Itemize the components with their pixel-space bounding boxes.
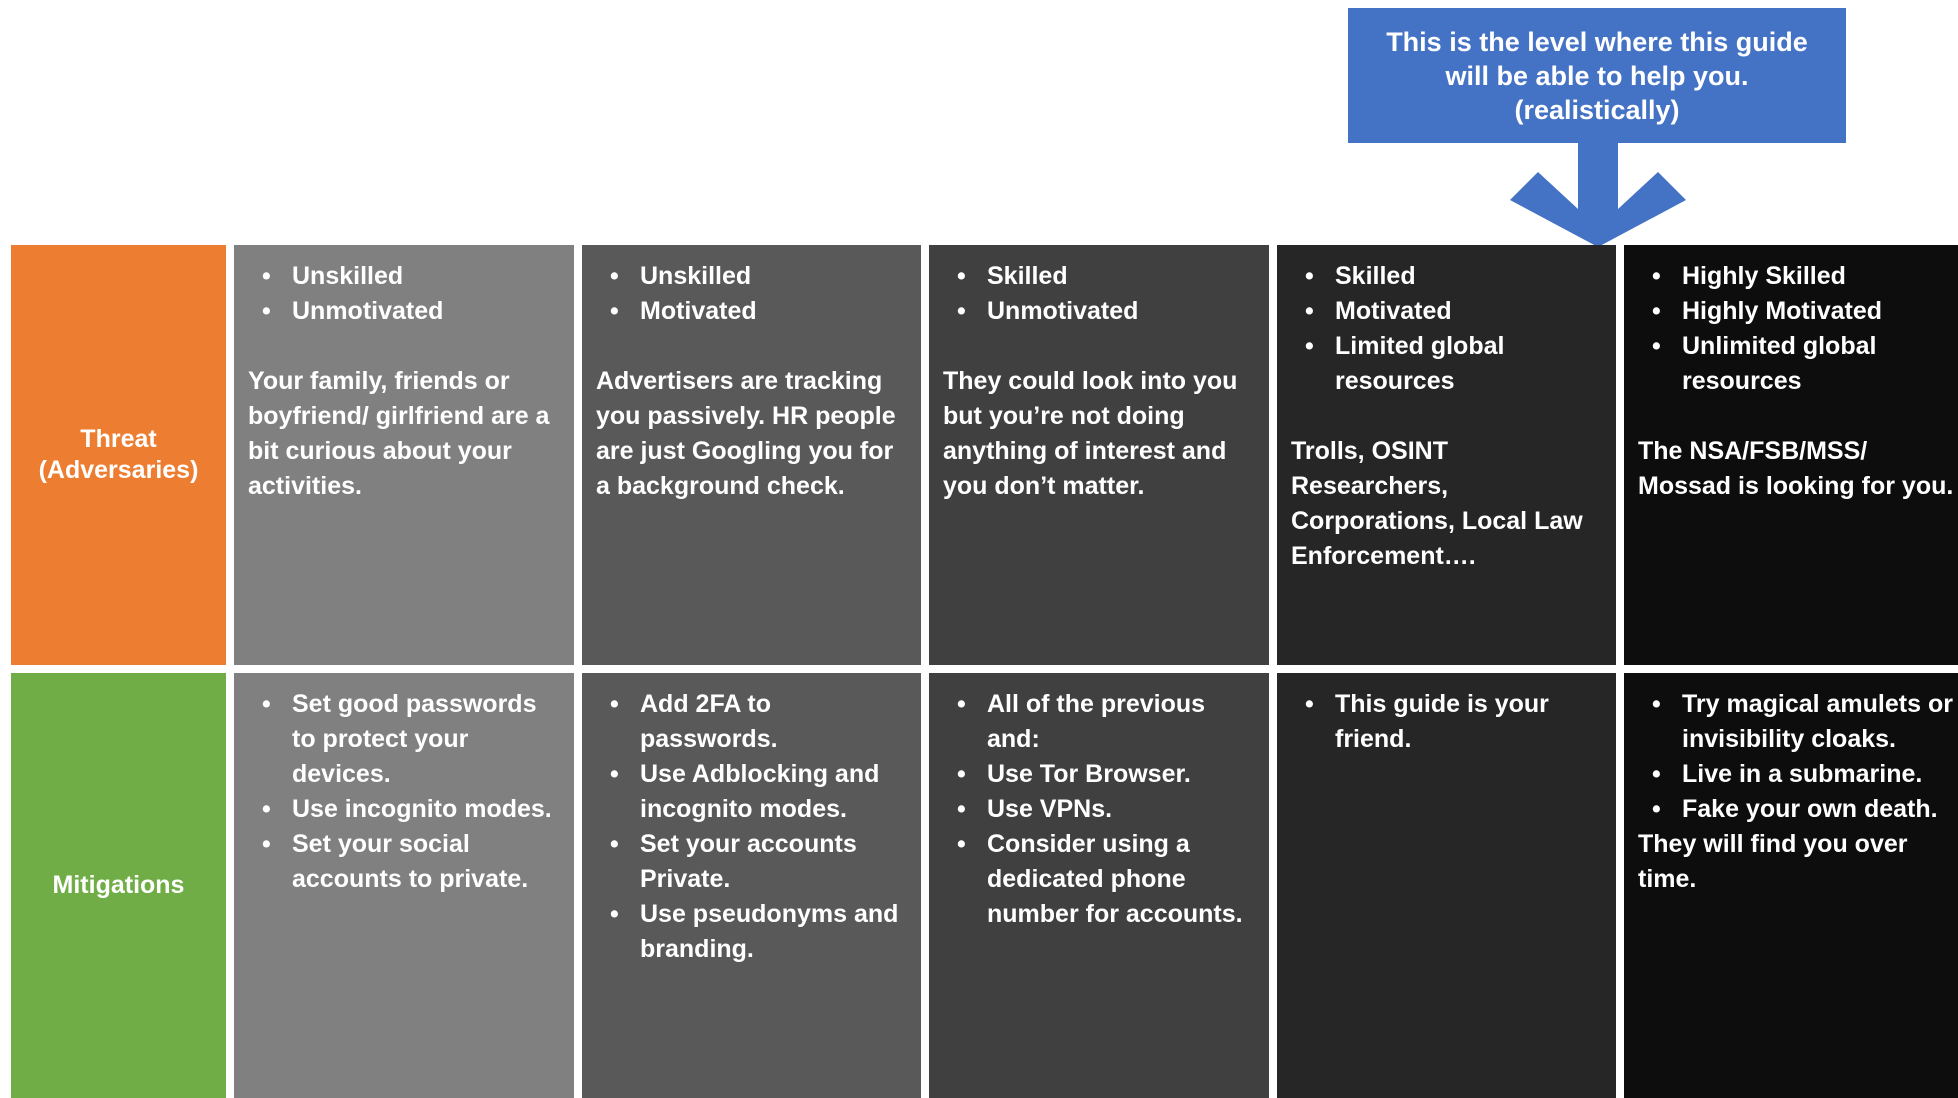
list-item: Set good passwords to protect your devic…	[248, 687, 560, 792]
row-label-threat: Threat (Adversaries)	[11, 245, 226, 665]
row-label-mitigations-text: Mitigations	[53, 870, 185, 901]
list-item: Skilled	[943, 259, 1255, 294]
mitigations-paragraph-level-5: They will find you over time.	[1638, 827, 1954, 897]
mitigations-cell-level-3: All of the previous and: Use Tor Browser…	[929, 673, 1269, 1098]
row-label-mitigations: Mitigations	[11, 673, 226, 1098]
mitigations-bullets-level-4: This guide is your friend.	[1291, 687, 1602, 757]
list-item: Unskilled	[596, 259, 907, 294]
threat-bullets-level-1: Unskilled Unmotivated	[248, 259, 560, 329]
callout-box: This is the level where this guide will …	[1348, 8, 1846, 143]
list-item: Highly Skilled	[1638, 259, 1954, 294]
threat-cell-level-3: Skilled Unmotivated They could look into…	[929, 245, 1269, 665]
threat-bullets-level-2: Unskilled Motivated	[596, 259, 907, 329]
mitigations-bullets-level-2: Add 2FA to passwords. Use Adblocking and…	[596, 687, 907, 967]
list-item: Unmotivated	[248, 294, 560, 329]
list-item: Live in a submarine.	[1638, 757, 1954, 792]
list-item: Use pseudonyms and branding.	[596, 897, 907, 967]
threat-cell-level-1: Unskilled Unmotivated Your family, frien…	[234, 245, 574, 665]
list-item: This guide is your friend.	[1291, 687, 1602, 757]
threat-paragraph-level-1: Your family, friends or boyfriend/ girlf…	[248, 364, 560, 504]
threat-bullets-level-4: Skilled Motivated Limited global resourc…	[1291, 259, 1602, 399]
arrow-down-icon	[1498, 139, 1698, 247]
row-label-threat-line1: Threat	[80, 425, 156, 453]
row-label-threat-line2: (Adversaries)	[39, 456, 199, 484]
threat-bullets-level-3: Skilled Unmotivated	[943, 259, 1255, 329]
threat-paragraph-level-5: The NSA/FSB/MSS/ Mossad is looking for y…	[1638, 434, 1954, 504]
threat-cell-level-2: Unskilled Motivated Advertisers are trac…	[582, 245, 921, 665]
list-item: Try magical amulets or invisibility cloa…	[1638, 687, 1954, 757]
threat-model-matrix: Threat (Adversaries) Unskilled Unmotivat…	[11, 245, 1947, 1090]
callout-line-1: This is the level where this guide	[1386, 25, 1808, 59]
list-item: Add 2FA to passwords.	[596, 687, 907, 757]
mitigations-cell-level-2: Add 2FA to passwords. Use Adblocking and…	[582, 673, 921, 1098]
threat-paragraph-level-2: Advertisers are tracking you passively. …	[596, 364, 907, 504]
list-item: Unskilled	[248, 259, 560, 294]
mitigations-bullets-level-3: All of the previous and: Use Tor Browser…	[943, 687, 1255, 932]
spacer	[248, 329, 560, 364]
list-item: Set your accounts Private.	[596, 827, 907, 897]
list-item: Use VPNs.	[943, 792, 1255, 827]
callout-group: This is the level where this guide will …	[1348, 8, 1846, 248]
mitigations-bullets-level-1: Set good passwords to protect your devic…	[248, 687, 560, 897]
callout-line-2: will be able to help you.	[1445, 59, 1748, 93]
list-item: Set your social accounts to private.	[248, 827, 560, 897]
mitigations-cell-level-4: This guide is your friend.	[1277, 673, 1616, 1098]
list-item: Unmotivated	[943, 294, 1255, 329]
list-item: Fake your own death.	[1638, 792, 1954, 827]
list-item: Use Tor Browser.	[943, 757, 1255, 792]
spacer	[596, 329, 907, 364]
mitigations-cell-level-1: Set good passwords to protect your devic…	[234, 673, 574, 1098]
spacer	[1291, 399, 1602, 434]
list-item: Skilled	[1291, 259, 1602, 294]
threat-paragraph-level-3: They could look into you but you’re not …	[943, 364, 1255, 504]
spacer	[943, 329, 1255, 364]
list-item: Motivated	[596, 294, 907, 329]
list-item: Unlimited global resources	[1638, 329, 1954, 399]
spacer	[1638, 399, 1954, 434]
list-item: Motivated	[1291, 294, 1602, 329]
threat-cell-level-4: Skilled Motivated Limited global resourc…	[1277, 245, 1616, 665]
callout-line-3: (realistically)	[1514, 93, 1679, 127]
mitigations-bullets-level-5: Try magical amulets or invisibility cloa…	[1638, 687, 1954, 827]
threat-bullets-level-5: Highly Skilled Highly Motivated Unlimite…	[1638, 259, 1954, 399]
list-item: Use incognito modes.	[248, 792, 560, 827]
list-item: Highly Motivated	[1638, 294, 1954, 329]
list-item: Use Adblocking and incognito modes.	[596, 757, 907, 827]
threat-cell-level-5: Highly Skilled Highly Motivated Unlimite…	[1624, 245, 1958, 665]
row-label-threat-text: Threat (Adversaries)	[39, 424, 199, 486]
threat-paragraph-level-4: Trolls, OSINT Researchers, Corporations,…	[1291, 434, 1602, 574]
list-item: Limited global resources	[1291, 329, 1602, 399]
list-item: All of the previous and:	[943, 687, 1255, 757]
mitigations-cell-level-5: Try magical amulets or invisibility cloa…	[1624, 673, 1958, 1098]
list-item: Consider using a dedicated phone number …	[943, 827, 1255, 932]
